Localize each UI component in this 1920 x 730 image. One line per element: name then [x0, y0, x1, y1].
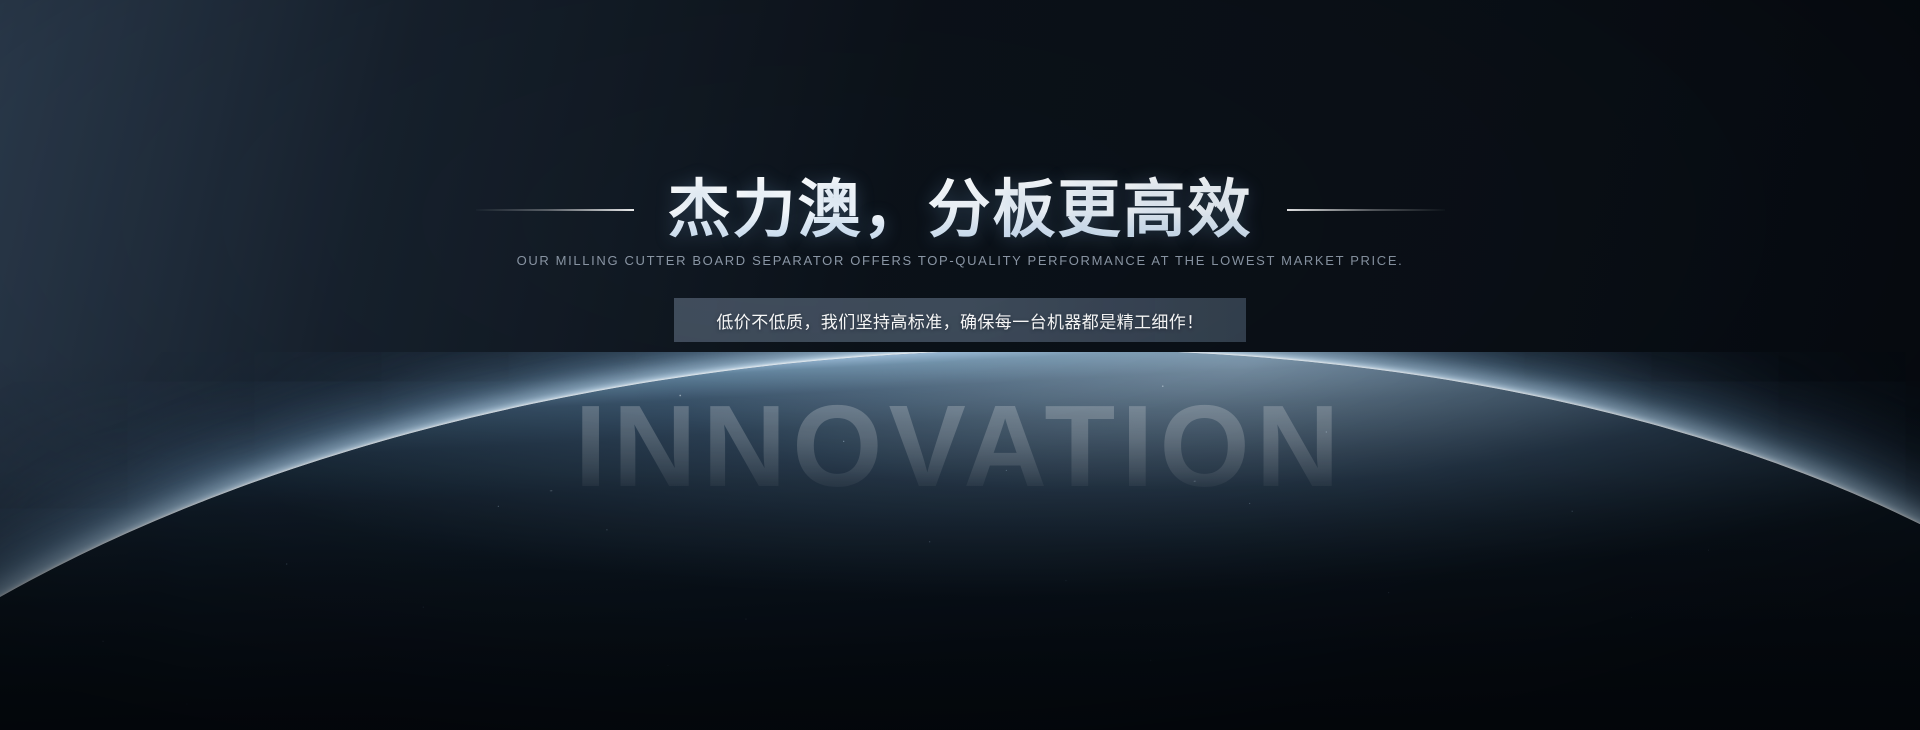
hero-banner: INNOVATION 杰力澳，分板更高效 OUR MILLING CUTTER … — [0, 0, 1920, 730]
hero-subtitle: OUR MILLING CUTTER BOARD SEPARATOR OFFER… — [0, 253, 1920, 268]
hero-message-text: 低价不低质，我们坚持高标准，确保每一台机器都是精工细作！ — [716, 308, 1203, 333]
innovation-watermark: INNOVATION — [0, 388, 1920, 504]
page-title: 杰力澳，分板更高效 — [668, 176, 1253, 244]
decorative-rule-right — [1287, 209, 1445, 211]
hero-message-bar: 低价不低质，我们坚持高标准，确保每一台机器都是精工细作！ — [674, 298, 1246, 342]
decorative-rule-left — [476, 209, 634, 211]
